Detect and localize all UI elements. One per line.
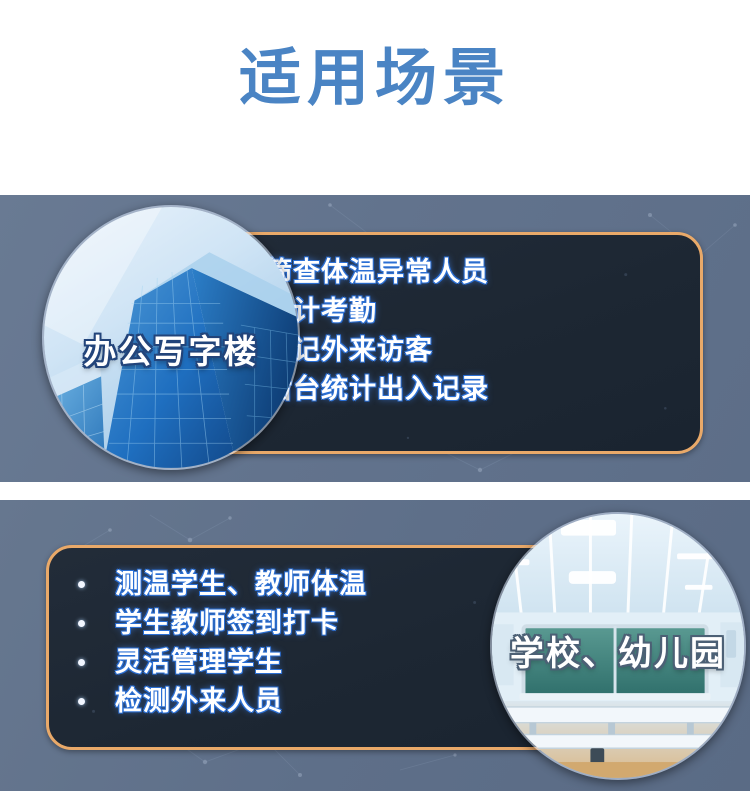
page-title: 适用场景: [239, 47, 511, 109]
bottom-white-strip: [0, 791, 750, 803]
bullet-list-school: 测温学生、教师体温 学生教师签到打卡 灵活管理学生 检测外来人员: [78, 565, 367, 721]
bullet-label: 筛查体温异常人员: [265, 259, 489, 286]
bullet-dot-icon: [78, 620, 85, 627]
scene-school-kindergarten: 测温学生、教师体温 学生教师签到打卡 灵活管理学生 检测外来人员: [0, 500, 750, 791]
bullet-label: 灵活管理学生: [115, 649, 283, 676]
circle-photo-school: 学校、幼儿园: [490, 512, 746, 780]
bullet-label: 后台统计出入记录: [265, 376, 489, 403]
bullet-dot-icon: [78, 581, 85, 588]
bullet-dot-icon: [78, 659, 85, 666]
section-divider: [0, 482, 750, 500]
bullet-dot-icon: [78, 698, 85, 705]
circle-photo-office-building: 办公写字楼: [42, 205, 300, 470]
circle-label: 学校、幼儿园: [492, 637, 744, 671]
bullet-label: 检测外来人员: [115, 688, 283, 715]
list-item: 灵活管理学生: [78, 643, 367, 682]
title-band: 适用场景: [0, 0, 750, 195]
bullet-label: 测温学生、教师体温: [115, 571, 367, 598]
scene-office-building: 筛查体温异常人员 统计考勤 登记外来访客 后台统计出入记录: [0, 195, 750, 482]
circle-label: 办公写字楼: [44, 335, 298, 368]
bullet-label: 学生教师签到打卡: [115, 610, 339, 637]
list-item: 检测外来人员: [78, 682, 367, 721]
list-item: 测温学生、教师体温: [78, 565, 367, 604]
list-item: 学生教师签到打卡: [78, 604, 367, 643]
